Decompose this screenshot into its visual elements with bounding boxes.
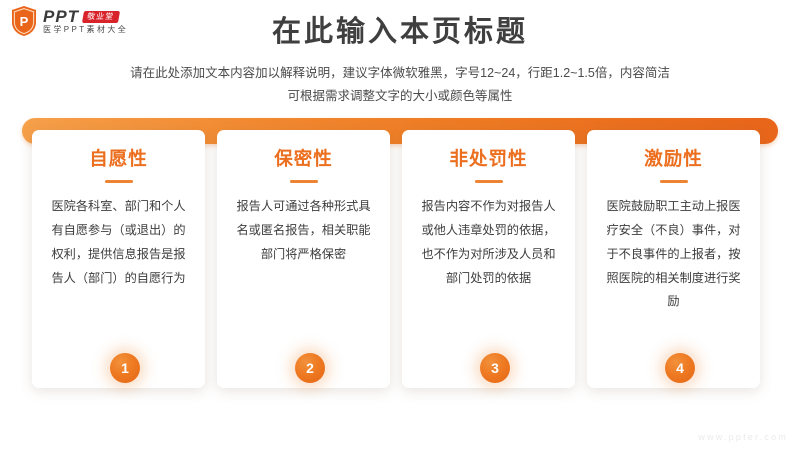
card-title: 自愿性 [32,148,205,170]
info-card[interactable]: 保密性 报告人可通过各种形式具名或匿名报告，相关职能部门将严格保密 [217,130,390,388]
card-group: 自愿性 医院各科室、部门和个人有自愿参与（或退出）的权利，提供信息报告是报告人（… [0,130,800,390]
card-divider [475,180,503,183]
card-divider [660,180,688,183]
card-body: 医院各科室、部门和个人有自愿参与（或退出）的权利，提供信息报告是报告人（部门）的… [48,195,189,290]
card-number-badge: 4 [665,353,695,383]
card-body: 医院鼓励职工主动上报医疗安全（不良）事件，对于不良事件的上报者，按照医院的相关制… [603,195,744,314]
card-title: 非处罚性 [402,148,575,170]
page-subtitle-line-1: 请在此处添加文本内容加以解释说明，建议字体微软雅黑，字号12~24，行距1.2~… [0,62,800,85]
card-title: 激励性 [587,148,760,170]
card-divider [105,180,133,183]
card-title: 保密性 [217,148,390,170]
card-divider [290,180,318,183]
card-number-badge: 1 [110,353,140,383]
page-subtitle: 请在此处添加文本内容加以解释说明，建议字体微软雅黑，字号12~24，行距1.2~… [0,62,800,108]
info-card[interactable]: 非处罚性 报告内容不作为对报告人或他人违章处罚的依据，也不作为对所涉及人员和部门… [402,130,575,388]
info-card[interactable]: 自愿性 医院各科室、部门和个人有自愿参与（或退出）的权利，提供信息报告是报告人（… [32,130,205,388]
watermark: www.ppter.com [698,432,788,442]
info-card[interactable]: 激励性 医院鼓励职工主动上报医疗安全（不良）事件，对于不良事件的上报者，按照医院… [587,130,760,388]
card-body: 报告人可通过各种形式具名或匿名报告，相关职能部门将严格保密 [233,195,374,266]
page-subtitle-line-2: 可根据需求调整文字的大小或颜色等属性 [0,85,800,108]
page-title: 在此输入本页标题 [0,15,800,50]
card-number-badge: 3 [480,353,510,383]
card-number-badge: 2 [295,353,325,383]
card-body: 报告内容不作为对报告人或他人违章处罚的依据，也不作为对所涉及人员和部门处罚的依据 [418,195,559,290]
